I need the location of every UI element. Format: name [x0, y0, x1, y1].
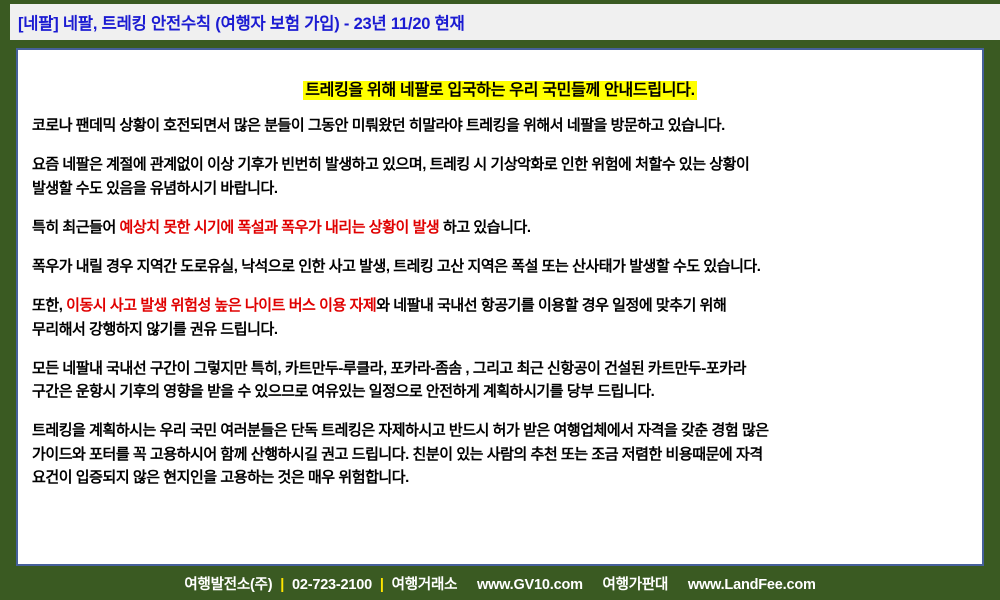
body-text: 코로나 팬데믹 상황이 호전되면서 많은 분들이 그동안 미뤄왔던 히말라야 트…	[32, 117, 725, 134]
para-weather: 요즘 네팔은 계절에 관계없이 이상 기후가 빈번히 발생하고 있으며, 트레킹…	[32, 153, 968, 200]
body-text: 폭우가 내릴 경우 지역간 도로유실, 낙석으로 인한 사고 발생, 트레킹 고…	[32, 258, 761, 275]
notice-frame: [네팔] 네팔, 트레킹 안전수칙 (여행자 보험 가입) - 23년 11/2…	[0, 0, 1000, 600]
notice-content-panel: 트레킹을 위해 네팔로 입국하는 우리 국민들께 안내드립니다. 코로나 팬데믹…	[16, 48, 984, 566]
footer-phone: 02-723-2100	[292, 577, 372, 593]
body-text: 특히 최근들어	[32, 219, 120, 236]
para-landslide: 폭우가 내릴 경우 지역간 도로유실, 낙석으로 인한 사고 발생, 트레킹 고…	[32, 255, 968, 278]
para-guide-porter: 트레킹을 계획하시는 우리 국민 여러분들은 단독 트레킹은 자제하시고 반드시…	[32, 419, 968, 489]
paragraph-list: 코로나 팬데믹 상황이 호전되면서 많은 분들이 그동안 미뤄왔던 히말라야 트…	[32, 114, 968, 489]
title-bar: [네팔] 네팔, 트레킹 안전수칙 (여행자 보험 가입) - 23년 11/2…	[10, 4, 1000, 40]
page-title: [네팔] 네팔, 트레킹 안전수칙 (여행자 보험 가입) - 23년 11/2…	[18, 10, 465, 34]
footer-brand1-url[interactable]: www.GV10.com	[477, 577, 583, 593]
para-domestic-flights: 모든 네팔내 국내선 구간이 그렇지만 특히, 카트만두-루클라, 포카라-좀솜…	[32, 357, 968, 404]
headline-highlighted: 트레킹을 위해 네팔로 입국하는 우리 국민들께 안내드립니다.	[303, 81, 697, 100]
body-text: 또한,	[32, 297, 66, 314]
footer-company: 여행발전소(주)	[184, 577, 272, 593]
emphasis-text-red: 예상치 못한 시기에 폭설과 폭우가 내리는 상황이 발생	[120, 219, 440, 236]
footer-brand2-label: 여행가판대	[603, 577, 669, 593]
emphasis-text-red: 이동시 사고 발생 위험성 높은 나이트 버스 이용 자제	[66, 297, 376, 314]
footer-separator-2: |	[380, 577, 384, 593]
body-text: 모든 네팔내 국내선 구간이 그렇지만 특히, 카트만두-루클라, 포카라-좀솜…	[32, 360, 746, 400]
footer-bar: 여행발전소(주) | 02-723-2100 | 여행거래소 www.GV10.…	[0, 566, 1000, 600]
body-text: 하고 있습니다.	[439, 219, 530, 236]
footer-contact-line: 여행발전소(주) | 02-723-2100 | 여행거래소 www.GV10.…	[184, 573, 815, 594]
body-text: 요즘 네팔은 계절에 관계없이 이상 기후가 빈번히 발생하고 있으며, 트레킹…	[32, 156, 749, 196]
footer-separator-1: |	[280, 577, 284, 593]
para-recent-snow: 특히 최근들어 예상치 못한 시기에 폭설과 폭우가 내리는 상황이 발생 하고…	[32, 216, 968, 239]
para-night-bus: 또한, 이동시 사고 발생 위험성 높은 나이트 버스 이용 자제와 네팔내 국…	[32, 294, 968, 341]
para-pandemic: 코로나 팬데믹 상황이 호전되면서 많은 분들이 그동안 미뤄왔던 히말라야 트…	[32, 114, 968, 137]
footer-brand1-label: 여행거래소	[392, 577, 458, 593]
body-text: 트레킹을 계획하시는 우리 국민 여러분들은 단독 트레킹은 자제하시고 반드시…	[32, 422, 769, 486]
headline-container: 트레킹을 위해 네팔로 입국하는 우리 국민들께 안내드립니다.	[32, 76, 968, 100]
footer-brand2-url[interactable]: www.LandFee.com	[688, 577, 816, 593]
